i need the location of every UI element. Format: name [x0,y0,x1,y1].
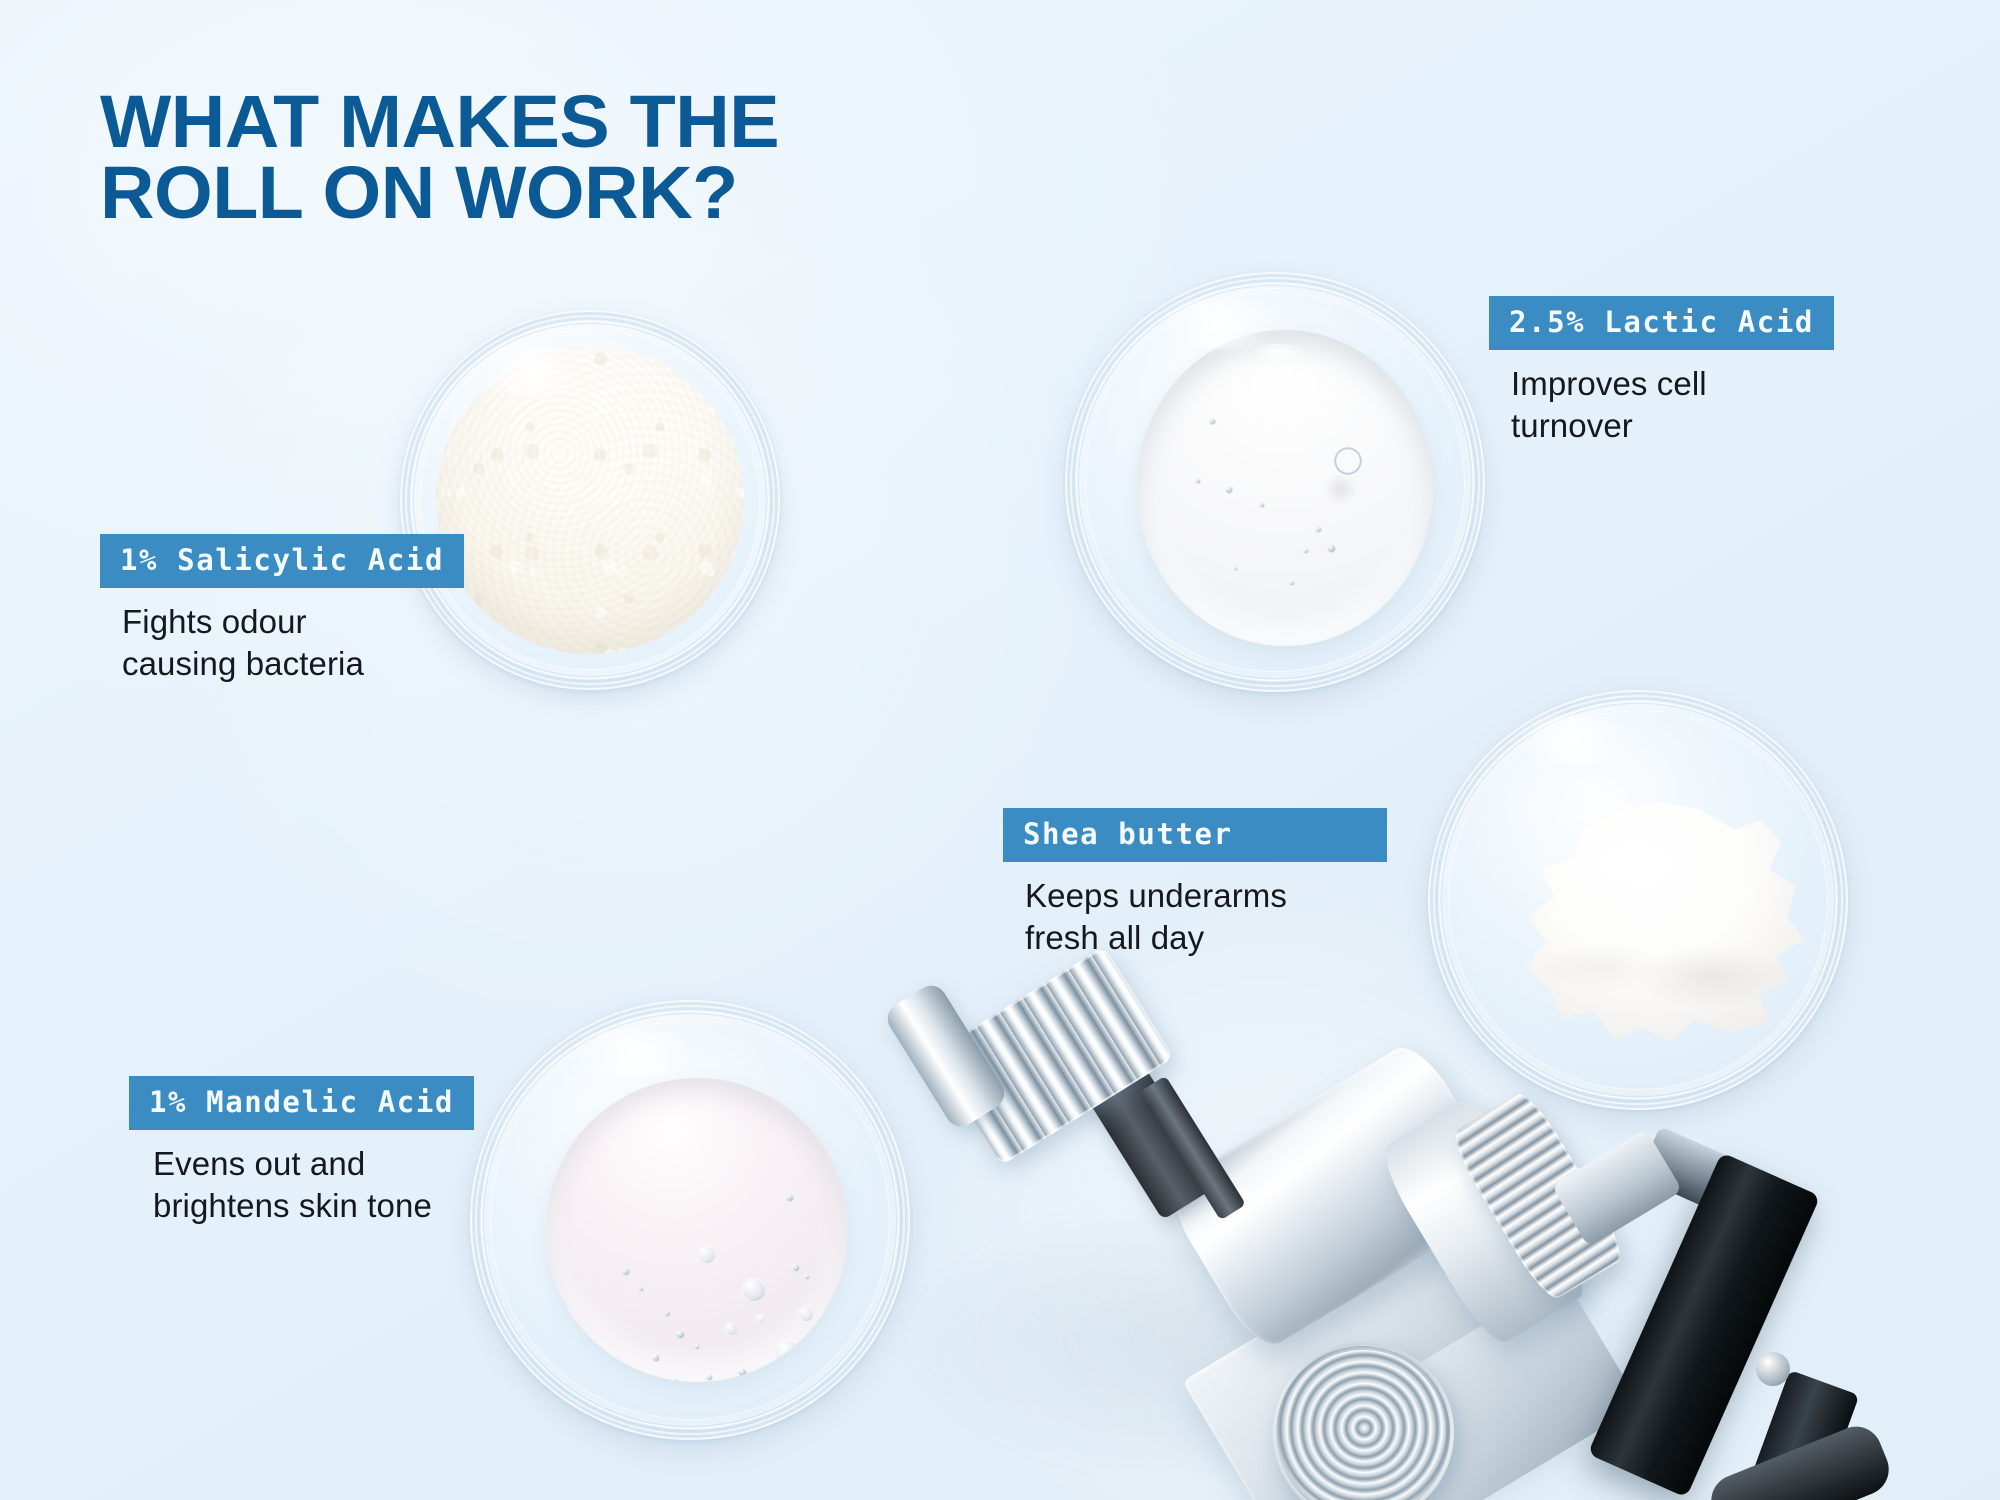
gel-bubble [672,1378,678,1382]
gel-bubble [652,1354,660,1362]
description-mandelic-acid: Evens out and brightens skin tone [153,1143,474,1227]
powder-sample [436,346,744,654]
ingredient-label-mandelic-acid: 1% Mandelic Acid Evens out and brightens… [129,1076,474,1227]
microscope [950,980,2000,1500]
dish-highlight [1143,300,1293,350]
gel-bubble [1195,478,1201,484]
gel-bubble [798,1306,814,1322]
gel-bubble [664,1310,671,1317]
dish-highlight [462,344,602,398]
badge-shea-butter: Shea butter [1003,808,1387,862]
gel-bubble [1333,446,1363,476]
description-salicylic-acid: Fights odour causing bacteria [122,601,464,685]
microscope-screw [1756,1352,1790,1386]
gel-bubble [706,1374,713,1381]
gel-bubble [804,1274,810,1280]
gel-bubble [792,1264,800,1272]
gel-bubble [786,1194,794,1202]
gel-bubble [694,1344,700,1350]
badge-salicylic-acid: 1% Salicylic Acid [100,534,464,588]
ingredient-label-shea-butter: Shea butter Keeps underarms fresh all da… [1003,808,1387,959]
gel-bubble [774,1340,800,1364]
gel-bubble [724,1322,738,1336]
gel-bubble [756,1314,766,1324]
mandelic-gel-sample [546,1078,848,1382]
infographic-canvas: WHAT MAKES THE ROLL ON WORK? 1% Salicyli… [0,0,2000,1500]
dish-highlight [554,1030,714,1078]
badge-mandelic-acid: 1% Mandelic Acid [129,1076,474,1130]
gel-bubble [1233,566,1238,571]
gel-soft-spot [1323,476,1359,502]
gel-bubble [738,1368,747,1377]
lactic-gel-sample [1137,330,1433,646]
badge-lactic-acid: 2.5% Lactic Acid [1489,296,1834,350]
petri-dish-mandelic-acid [470,1000,910,1440]
description-shea-butter: Keeps underarms fresh all day [1025,875,1387,959]
gel-bubble [698,1246,716,1264]
ingredient-label-lactic-acid: 2.5% Lactic Acid Improves cell turnover [1489,296,1834,447]
gel-bubble [1259,502,1265,508]
gel-bubble [676,1330,685,1339]
dish-highlight [1498,716,1648,764]
gel-bubble [638,1286,644,1292]
gel-highlight [1257,344,1301,360]
ingredient-label-salicylic-acid: 1% Salicylic Acid Fights odour causing b… [100,534,464,685]
gel-bubble [1289,580,1295,586]
petri-dish-lactic-acid [1065,272,1485,692]
gel-bubble [742,1278,766,1302]
gel-bubble [1303,548,1309,554]
gel-bubble [622,1268,630,1276]
gel-bubble [1225,486,1233,494]
page-title: WHAT MAKES THE ROLL ON WORK? [100,86,779,228]
gel-bubble [638,1374,645,1381]
gel-bubble [1315,526,1322,533]
description-lactic-acid: Improves cell turnover [1511,363,1834,447]
gel-bubble [1327,544,1336,553]
gel-bubble [1209,418,1216,425]
